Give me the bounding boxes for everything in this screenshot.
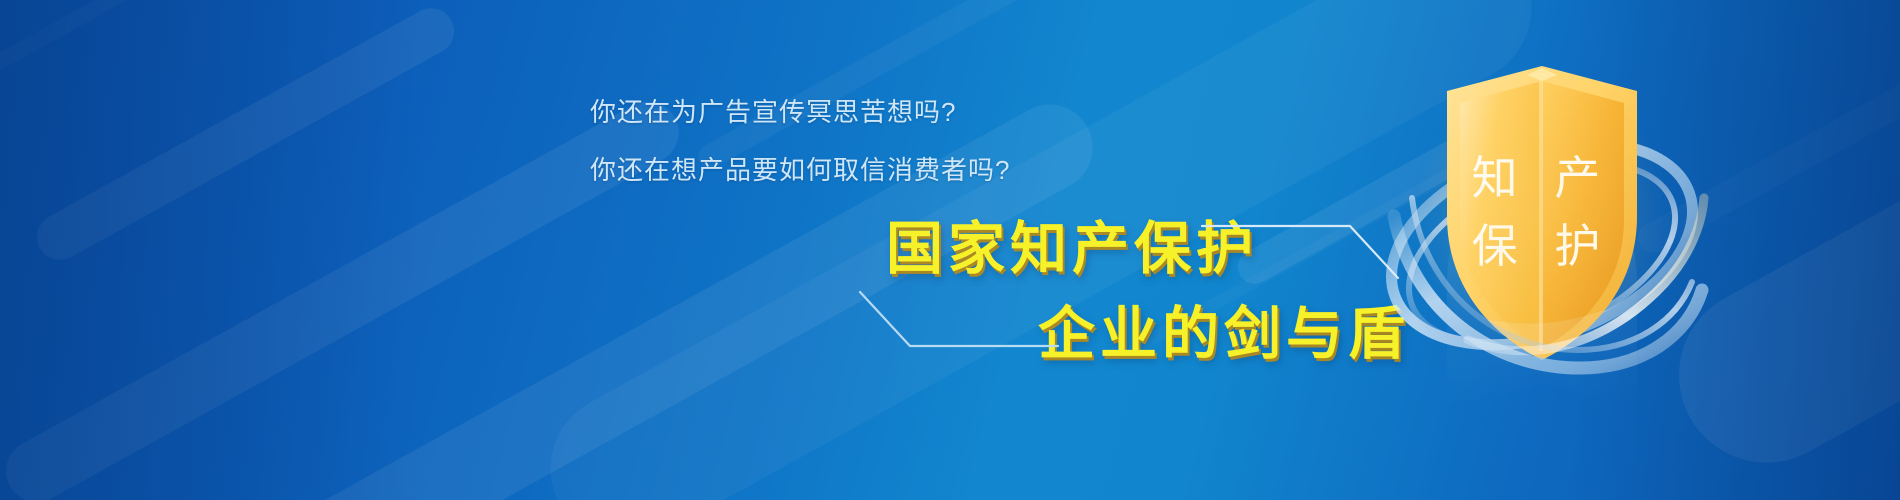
promo-banner: 你还在为广告宣传冥思苦想吗? 你还在想产品要如何取信消费者吗? 国家知产保护 企… (0, 0, 1900, 500)
subhead-line-2: 你还在想产品要如何取信消费者吗? (590, 150, 1010, 187)
headline-line-1: 国家知产保护 (886, 203, 1258, 285)
copy-block: 你还在为广告宣传冥思苦想吗? 你还在想产品要如何取信消费者吗? 国家知产保护 企… (0, 0, 1400, 500)
subhead-line-1: 你还在为广告宣传冥思苦想吗? (590, 92, 956, 129)
shield-emblem: 知 产 保 护 (1372, 48, 1712, 478)
shield-glow (1408, 68, 1676, 368)
angle-bracket-bottom (854, 284, 1064, 379)
headline-line-2: 企业的剑与盾 (1038, 288, 1410, 370)
